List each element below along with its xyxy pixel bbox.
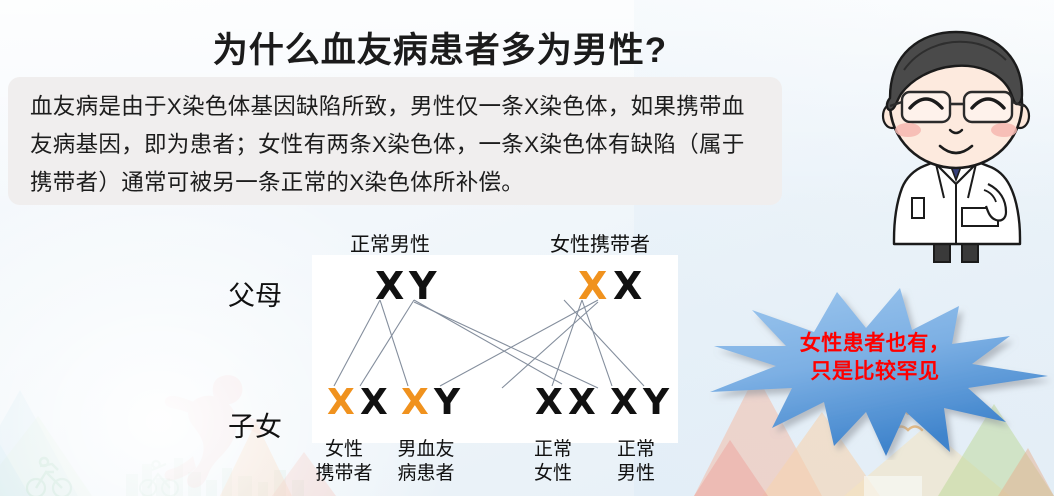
- child-4-allele-1: X: [610, 385, 638, 421]
- inheritance-connector-lines: [312, 298, 678, 390]
- child-4-allele-2: Y: [643, 385, 669, 421]
- child-1-allele-2: X: [360, 385, 388, 421]
- diagram-header-father: 正常男性: [330, 228, 450, 257]
- child-4-caption: 正常 男性: [588, 438, 684, 486]
- page-title: 为什么血友病患者多为男性?: [0, 22, 880, 73]
- child-2-allele-1: X: [401, 385, 429, 421]
- doctor-cartoon-illustration: [868, 12, 1046, 274]
- child-3-caption-line1: 正常: [505, 438, 601, 462]
- inheritance-diagram: 正常男性 女性携带者 父母 子女 X Y X X X: [0, 220, 820, 496]
- child-3-allele-1: X: [535, 385, 563, 421]
- slide-canvas: 为什么血友病患者多为男性? 血友病是由于X染色体基因缺陷所致，男性仅一条X染色体…: [0, 0, 1054, 496]
- child-4-caption-line2: 男性: [588, 462, 684, 486]
- starburst-callout-line2: 只是比较罕见: [766, 358, 984, 386]
- child-2-caption-line1: 男血友: [378, 438, 474, 462]
- starburst-callout-text: 女性患者也有， 只是比较罕见: [766, 330, 984, 386]
- child-4-caption-line1: 正常: [588, 438, 684, 462]
- diagram-row-label-children: 子女: [228, 405, 282, 444]
- child-3-caption: 正常 女性: [505, 438, 601, 486]
- description-text: 血友病是由于X染色体基因缺陷所致，男性仅一条X染色体，如果携带血友病基因，即为患…: [30, 88, 760, 202]
- child-3-caption-line2: 女性: [505, 462, 601, 486]
- starburst-callout-line1: 女性患者也有，: [766, 330, 984, 358]
- child-1-allele-1: X: [327, 385, 355, 421]
- diagram-row-label-parents: 父母: [228, 274, 282, 313]
- child-3-allele-2: X: [568, 385, 596, 421]
- child-2-caption-line2: 病患者: [378, 462, 474, 486]
- child-2-caption: 男血友 病患者: [378, 438, 474, 486]
- child-2-allele-2: Y: [434, 385, 460, 421]
- diagram-header-mother: 女性携带者: [540, 228, 660, 257]
